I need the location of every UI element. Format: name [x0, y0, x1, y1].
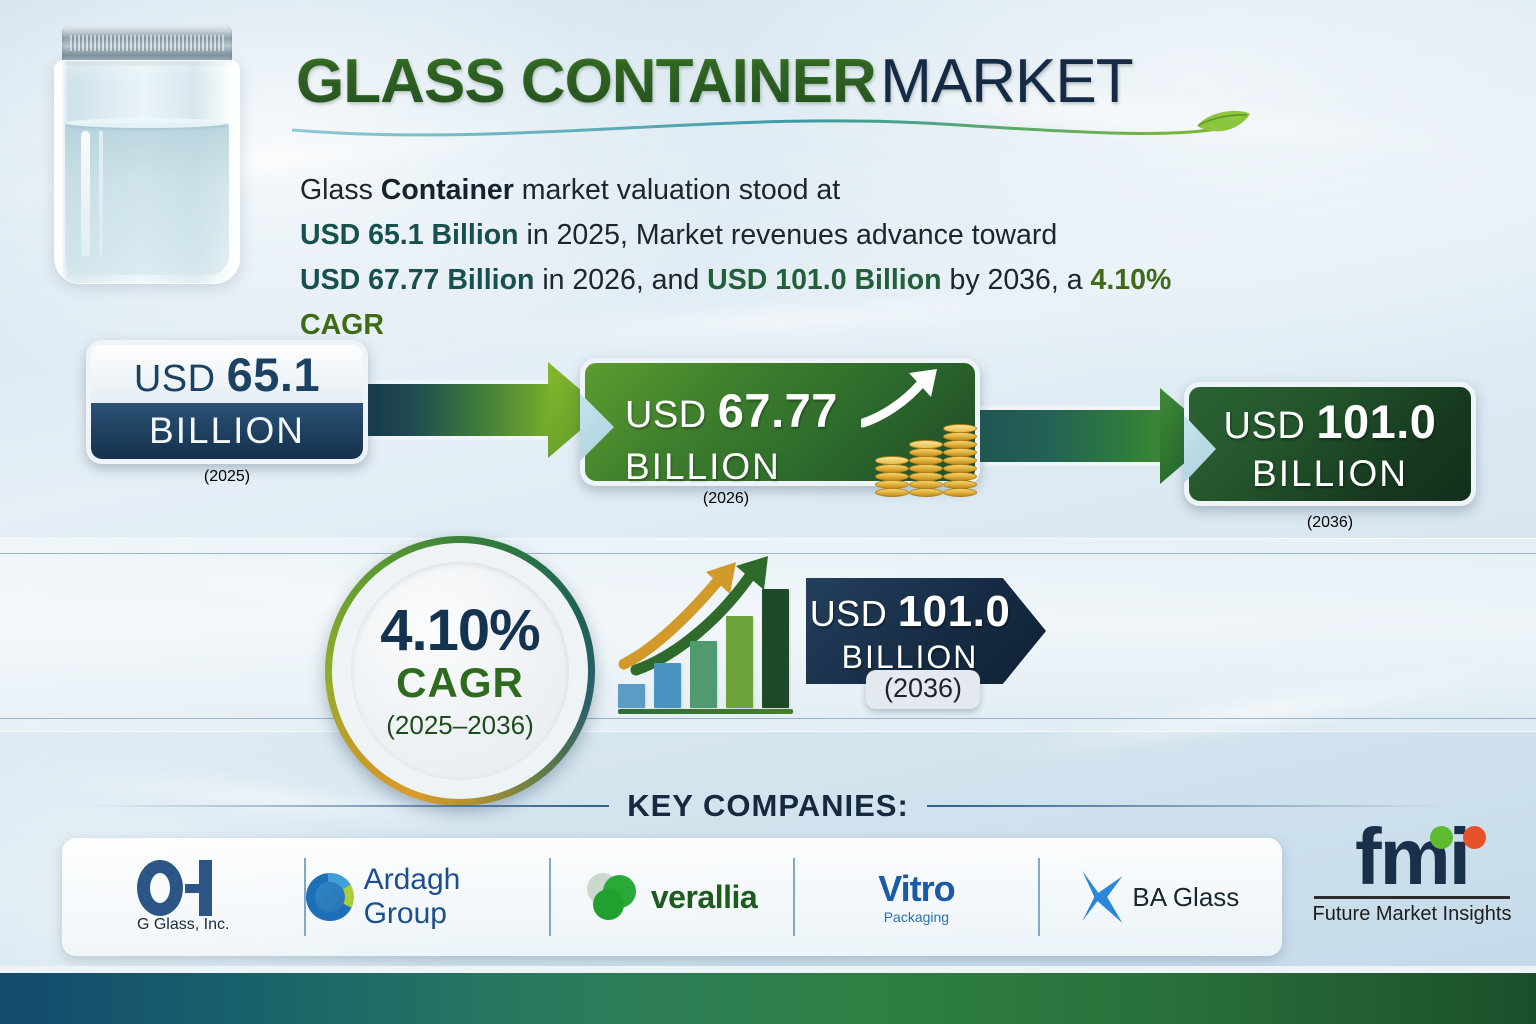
cagr-label: CAGR [396, 662, 524, 704]
fmi-dot-orange [1463, 826, 1486, 849]
flow-step-2025: USD 65.1 BILLION [86, 340, 368, 464]
flow-step-2025-unit: BILLION [91, 403, 363, 459]
key-companies-title: KEY COMPANIES: [627, 788, 909, 824]
chart-bars [618, 578, 793, 708]
company-logo-verallia[interactable]: verallia [551, 858, 795, 936]
chart-axis [618, 709, 793, 714]
fmi-dot-green [1430, 826, 1453, 849]
flow-step-2025-value: USD 65.1 [91, 345, 363, 403]
flow-step-2026-year: (2026) [703, 490, 749, 508]
glass-jar-image [52, 24, 242, 286]
key-companies-section: KEY COMPANIES: G Glass, Inc. Ardagh Grou… [0, 788, 1536, 824]
footer-bar [0, 966, 1536, 1024]
connector-arrow-1 [348, 362, 604, 458]
flow-notch [580, 393, 614, 461]
company-logo-vitro[interactable]: Vitro Packaging [795, 858, 1039, 936]
banner-value: USD 101.0 [810, 587, 1011, 637]
company-caption-vitro: Packaging [878, 910, 954, 924]
fmi-logo: fmi Future Market Insights [1308, 820, 1516, 926]
verallia-mark-icon [587, 873, 641, 921]
description-line-1: Glass Container market valuation stood a… [300, 168, 1220, 213]
company-name-verallia: verallia [651, 879, 757, 916]
description-line-3: USD 67.77 Billion in 2026, and USD 101.0… [300, 258, 1220, 348]
fmi-wordmark: fmi [1308, 820, 1516, 894]
cagr-percent: 4.10% [380, 602, 539, 660]
jar-body [54, 60, 240, 284]
page-title: GLASS CONTAINER MARKET [296, 46, 1133, 117]
company-logo-ardagh[interactable]: Ardagh Group [306, 858, 550, 936]
market-flow: USD 65.1 BILLION (2025) USD 67.77 BILLIO… [0, 340, 1536, 560]
flow-step-2026: USD 67.77 BILLION [580, 358, 980, 486]
chart-bar [654, 663, 681, 709]
description-text: Glass Container market valuation stood a… [300, 168, 1220, 348]
company-name-vitro: Vitro [878, 871, 954, 907]
company-logo-ba-glass[interactable]: BA Glass [1040, 858, 1282, 936]
flow-step-2026-unit: BILLION [625, 446, 838, 488]
chart-bar [618, 684, 645, 708]
highlight-banner-2036: USD 101.0 BILLION [806, 578, 1046, 684]
description-line-2: USD 65.1 Billion in 2025, Market revenue… [300, 213, 1220, 258]
cagr-badge: 4.10% CAGR (2025–2036) [325, 536, 595, 806]
flow-step-2036-unit: BILLION [1252, 453, 1408, 495]
cagr-range: (2025–2036) [386, 710, 533, 741]
chart-bar [690, 641, 717, 708]
flow-step-2036-year: (2036) [1307, 514, 1353, 532]
chart-bar [762, 589, 789, 708]
banner-year: (2036) [866, 670, 980, 709]
growth-bar-chart [618, 552, 798, 722]
leaf-icon [1197, 111, 1250, 131]
connector-arrow-2 [960, 388, 1216, 484]
company-caption-oi: G Glass, Inc. [137, 916, 229, 934]
flow-step-2036: USD 101.0 BILLION [1184, 382, 1476, 506]
company-name-ardagh: Ardagh Group [364, 863, 549, 931]
oi-mark-icon [137, 860, 229, 916]
ardagh-mark-icon [306, 873, 353, 921]
coin-stacks-icon [875, 407, 995, 497]
divider-left [89, 805, 609, 807]
chart-bar [726, 616, 753, 708]
flow-step-2025-year: (2025) [204, 468, 250, 486]
flow-step-2026-value: USD 67.77 [625, 383, 838, 438]
title-swoosh [292, 108, 1252, 148]
title-primary: GLASS CONTAINER [296, 47, 876, 116]
fmi-tagline: Future Market Insights [1308, 903, 1516, 926]
ba-glass-mark-icon [1082, 871, 1122, 923]
company-logo-strip: G Glass, Inc. Ardagh Group verallia Vitr… [62, 838, 1282, 956]
divider-right [927, 805, 1447, 807]
flow-notch [1184, 415, 1216, 483]
key-companies-header: KEY COMPANIES: [0, 788, 1536, 824]
flow-step-2036-value: USD 101.0 [1224, 394, 1437, 449]
title-secondary: MARKET [880, 47, 1132, 116]
company-logo-oi[interactable]: G Glass, Inc. [62, 858, 306, 936]
company-name-ba-glass: BA Glass [1132, 882, 1239, 913]
